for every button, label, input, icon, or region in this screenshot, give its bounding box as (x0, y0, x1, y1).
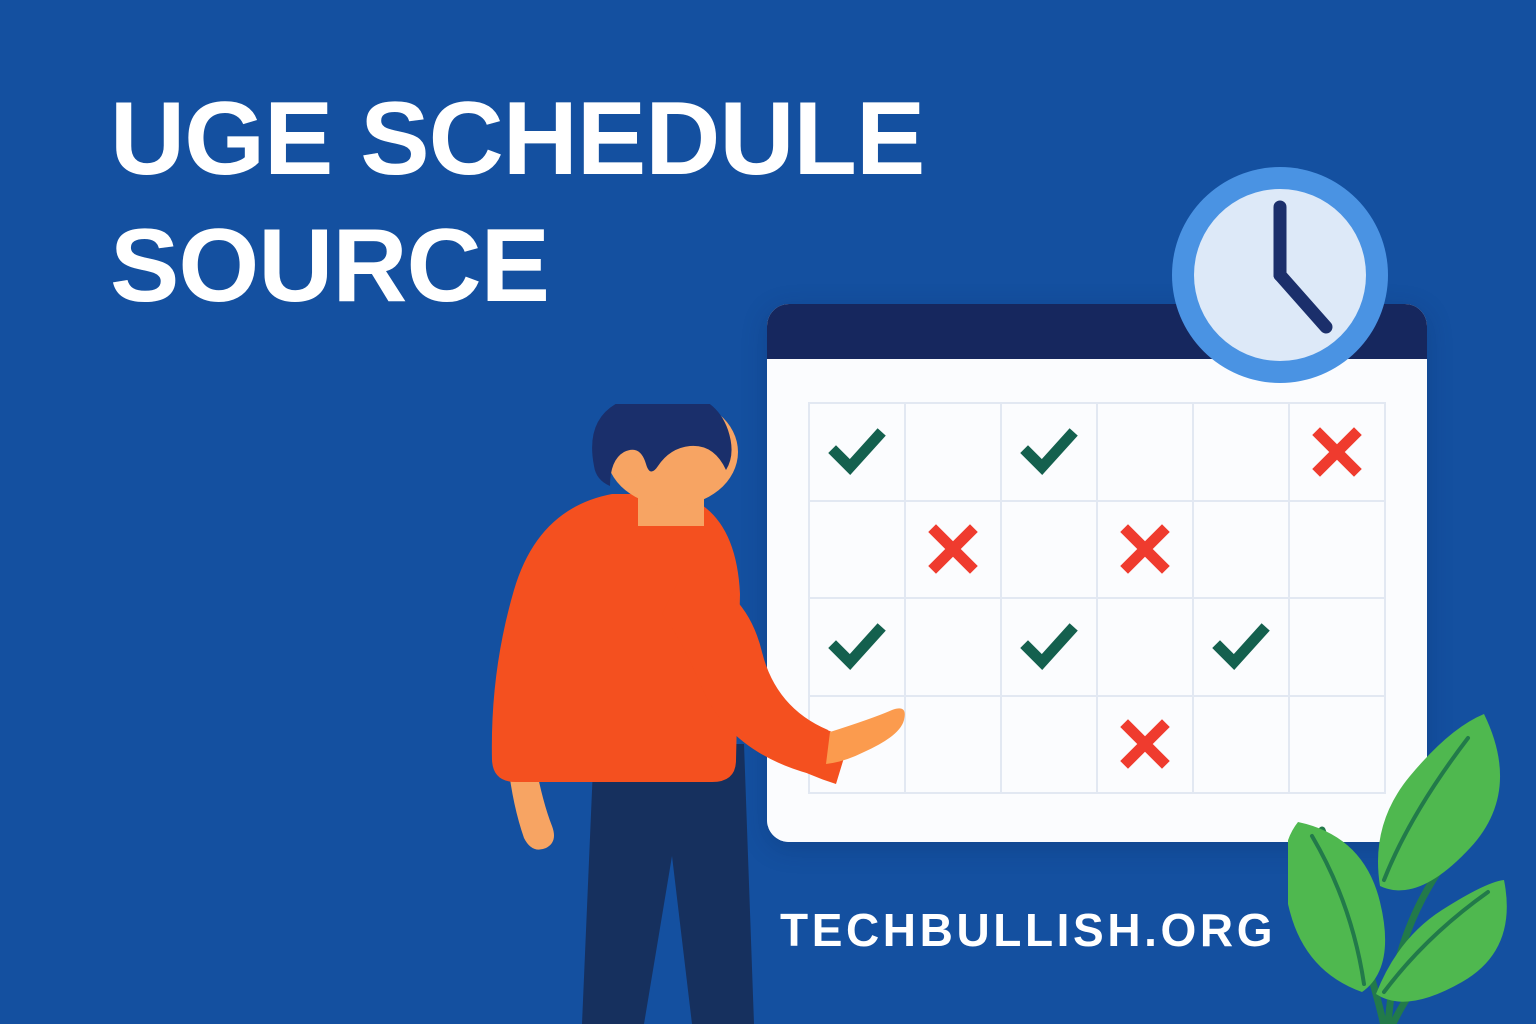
person-legs (582, 744, 754, 1024)
calendar-cell-r4-c4[interactable] (1098, 697, 1194, 795)
calendar-cell-r3-c4[interactable] (1098, 599, 1194, 697)
calendar-cell-r4-c5[interactable] (1194, 697, 1290, 795)
check-icon (1211, 617, 1271, 677)
calendar-cell-r3-c6[interactable] (1290, 599, 1386, 697)
calendar-cell-r2-c6[interactable] (1290, 502, 1386, 600)
cross-icon (1115, 519, 1175, 579)
page-title: UGE SCHEDULE SOURCE (110, 76, 1130, 330)
calendar-cell-r1-c4[interactable] (1098, 404, 1194, 502)
poster-canvas: UGE SCHEDULE SOURCE (0, 0, 1536, 1024)
calendar-cell-r3-c3[interactable] (1002, 599, 1098, 697)
plant-leaf-left (1288, 822, 1385, 992)
cross-icon (1307, 422, 1367, 482)
calendar-cell-r2-c4[interactable] (1098, 502, 1194, 600)
check-icon (1019, 422, 1079, 482)
plant-leaf-right (1376, 880, 1507, 1002)
calendar-cell-r2-c5[interactable] (1194, 502, 1290, 600)
plant-icon (1288, 688, 1536, 1024)
calendar-cell-r1-c2[interactable] (906, 404, 1002, 502)
calendar-cell-r4-c3[interactable] (1002, 697, 1098, 795)
calendar-cell-r3-c5[interactable] (1194, 599, 1290, 697)
cross-icon (1115, 714, 1175, 774)
calendar-cell-r1-c3[interactable] (1002, 404, 1098, 502)
clock-icon (1168, 163, 1392, 387)
cross-icon (923, 519, 983, 579)
brand-watermark: TECHBULLISH.ORG (780, 903, 1276, 957)
calendar-cell-r2-c3[interactable] (1002, 502, 1098, 600)
calendar-cell-r1-c5[interactable] (1194, 404, 1290, 502)
calendar-cell-r1-c6[interactable] (1290, 404, 1386, 502)
check-icon (1019, 617, 1079, 677)
calendar-cell-r3-c2[interactable] (906, 599, 1002, 697)
calendar-cell-r4-c2[interactable] (906, 697, 1002, 795)
plant-leaf-center (1378, 714, 1500, 890)
calendar-cell-r2-c2[interactable] (906, 502, 1002, 600)
person-right-hand (826, 708, 905, 764)
